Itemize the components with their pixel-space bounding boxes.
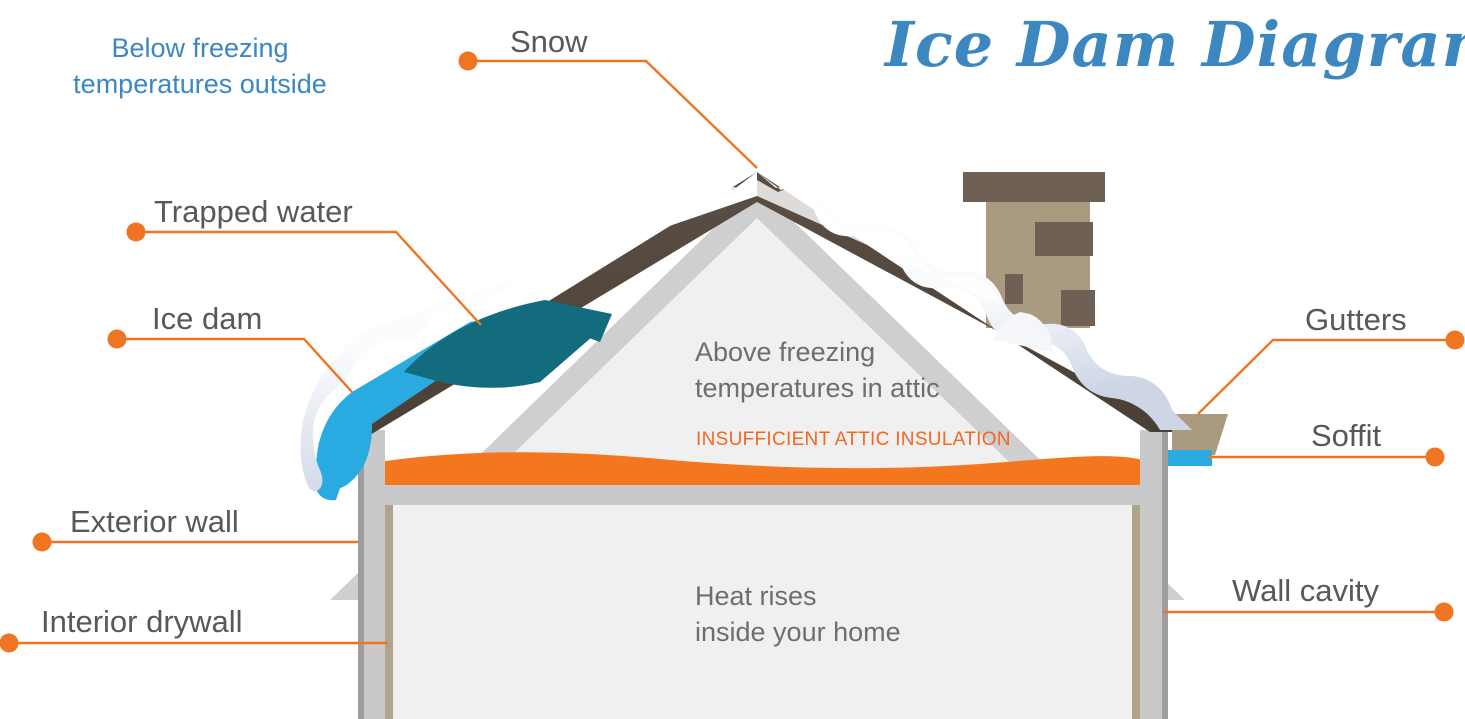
heat-line1: Heat rises — [695, 578, 901, 614]
callout-label-gutters: Gutters — [1305, 302, 1407, 338]
circle-marker-icon[interactable] — [1426, 448, 1445, 467]
circle-marker-icon[interactable] — [33, 533, 52, 552]
callout-ice-dam[interactable] — [108, 330, 353, 393]
callout-label-trapped-water: Trapped water — [154, 194, 353, 230]
outside-temp-line2: temperatures outside — [50, 66, 350, 102]
callout-label-snow: Snow — [510, 24, 588, 60]
callout-gutters[interactable] — [1198, 331, 1465, 415]
callout-snow[interactable] — [459, 52, 758, 169]
insulation-note: INSUFFICIENT ATTIC INSULATION — [696, 429, 1011, 451]
attic-temp-note: Above freezing temperatures in attic — [695, 334, 940, 406]
callout-label-exterior-wall: Exterior wall — [70, 504, 239, 540]
outside-temp-line1: Below freezing — [50, 30, 350, 66]
circle-marker-icon[interactable] — [0, 634, 19, 653]
circle-marker-icon[interactable] — [1435, 603, 1454, 622]
outside-temp-note: Below freezing temperatures outside — [50, 30, 350, 102]
leader-line-icon — [117, 339, 352, 392]
ice-dam-diagram: Ice Dam Diagram Below freezing temperatu… — [0, 0, 1465, 719]
callout-label-soffit: Soffit — [1311, 418, 1381, 454]
callout-label-wall-cavity: Wall cavity — [1232, 573, 1379, 609]
circle-marker-icon[interactable] — [459, 52, 478, 71]
heat-line2: inside your home — [695, 614, 901, 650]
callout-label-interior-drywall: Interior drywall — [41, 604, 243, 640]
circle-marker-icon[interactable] — [127, 223, 146, 242]
circle-marker-icon[interactable] — [1446, 331, 1465, 350]
page-title: Ice Dam Diagram — [885, 8, 1465, 81]
leader-line-icon — [1198, 340, 1455, 414]
circle-marker-icon[interactable] — [108, 330, 127, 349]
callout-label-ice-dam: Ice dam — [152, 301, 262, 337]
attic-temp-line1: Above freezing — [695, 334, 940, 370]
heat-note: Heat rises inside your home — [695, 578, 901, 650]
leader-line-icon — [468, 61, 757, 168]
attic-temp-line2: temperatures in attic — [695, 370, 940, 406]
